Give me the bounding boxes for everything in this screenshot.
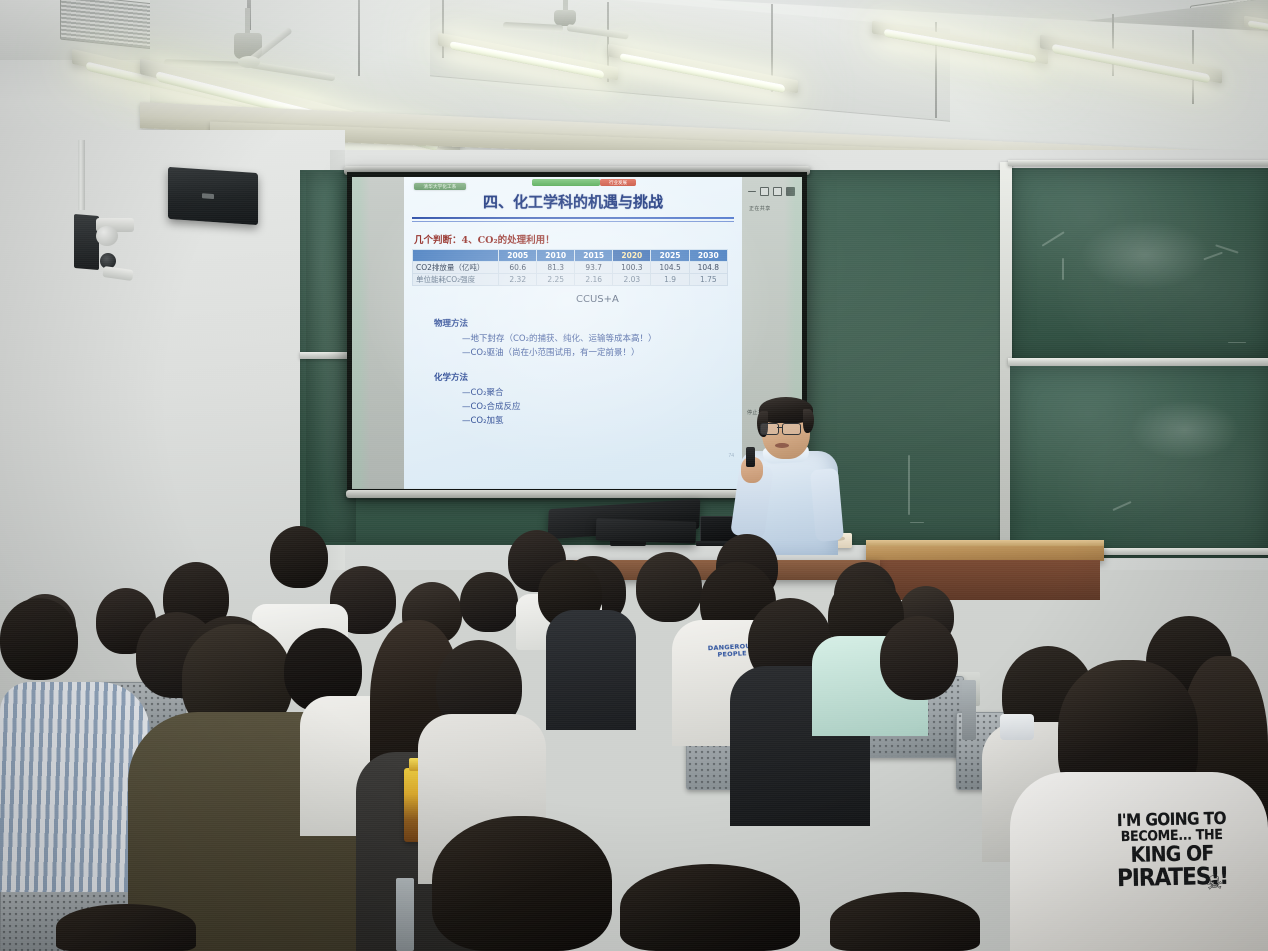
pirate-king-shirt-text: I'M GOING TO BECOME... THE KING OF PIRAT… <box>1081 810 1263 891</box>
student-head <box>270 526 328 588</box>
cell-emissions-2020: 100.3 <box>613 262 651 274</box>
podium-edge <box>866 540 1104 546</box>
minimize-icon[interactable] <box>748 191 756 192</box>
co2-data-table: 2005 2010 2015 2020 2025 2030 CO2排放量（亿吨）… <box>412 249 728 286</box>
student-head <box>56 904 196 951</box>
ceiling-fan-motor <box>554 10 576 26</box>
ceiling-hanger-rod <box>442 0 444 58</box>
cell-intensity-2005: 2.32 <box>499 274 537 286</box>
security-camera-dome <box>96 226 118 246</box>
table-header-2005: 2005 <box>499 250 537 262</box>
lecturer-glasses-bridge <box>777 427 783 428</box>
cell-emissions-2005: 60.6 <box>499 262 537 274</box>
maximize-icon[interactable] <box>773 187 782 196</box>
seat-armrest <box>962 680 976 740</box>
row-label-emissions: CO2排放量（亿吨） <box>413 262 499 274</box>
bullet-chemical-1: —CO₂聚合 <box>462 386 504 398</box>
student-body <box>546 610 636 730</box>
table-header-2030: 2030 <box>689 250 727 262</box>
cell-emissions-2010: 81.3 <box>537 262 575 274</box>
lecturer-glasses-right-lens <box>782 423 801 435</box>
tee-line-4: PIRATES!! <box>1082 863 1262 891</box>
student-head <box>620 864 800 951</box>
student-head <box>830 892 980 951</box>
table-row: CO2排放量（亿吨） 60.6 81.3 93.7 100.3 104.5 10… <box>413 262 728 274</box>
ceiling-fan-rod <box>245 8 250 36</box>
cell-intensity-2015: 2.16 <box>575 274 613 286</box>
ccus-label: CCUS+A <box>576 294 619 305</box>
skull-and-crossbones-icon: ☠ <box>1205 873 1223 893</box>
lecturer-mouth <box>775 443 789 448</box>
cell-intensity-2025: 1.9 <box>651 274 689 286</box>
face-mask <box>1000 714 1034 740</box>
lecturer-right-arm <box>810 468 844 542</box>
restore-icon[interactable] <box>760 187 769 196</box>
powerpoint-slide: 清华大学化工系 行业发展 四、化工学科的机遇与挑战 几个判断：4、CO₂的处理利… <box>404 177 742 489</box>
bullet-chemical-2: —CO₂合成反应 <box>462 400 521 412</box>
slide-subtitle: 几个判断：4、CO₂的处理利用！ <box>414 232 555 246</box>
cell-intensity-2010: 2.25 <box>537 274 575 286</box>
electrical-conduit <box>78 140 85 210</box>
row-label-intensity: 单位能耗CO₂强度 <box>413 274 499 286</box>
wall-speaker[interactable] <box>168 167 258 225</box>
seat-armrest <box>396 878 414 951</box>
slide-page-number: 74 <box>728 453 734 459</box>
slide-rule <box>412 217 734 219</box>
slide-badge-institution: 清华大学化工系 <box>414 183 466 190</box>
ceiling-hanger-rod <box>1112 14 1114 76</box>
cell-intensity-2020: 2.03 <box>613 274 651 286</box>
microphone[interactable] <box>746 447 755 467</box>
lecturer <box>735 395 855 555</box>
table-corner-cell <box>413 250 499 262</box>
sharing-status-label: 正在共享 <box>749 205 771 212</box>
bullet-physical-2: —CO₂驱油（尚在小范围试用，有一定前景！） <box>462 346 640 358</box>
chalk-mark <box>1062 258 1064 280</box>
chalk-mark <box>1228 342 1246 343</box>
table-header-row: 2005 2010 2015 2020 2025 2030 <box>413 250 728 262</box>
slide-badge-topic: 行业发展 <box>600 179 636 186</box>
window-controls[interactable] <box>748 187 795 196</box>
cell-emissions-2030: 104.8 <box>689 262 727 274</box>
cell-emissions-2025: 104.5 <box>651 262 689 274</box>
student-head <box>636 552 702 622</box>
section-heading-physical: 物理方法 <box>434 317 468 329</box>
lecture-hall-photo: 正在共享 停止共享 更多 清华大学化工系 行业发展 四、化工学科的机遇与挑战 几… <box>0 0 1268 951</box>
close-icon[interactable] <box>786 187 795 196</box>
board-rail-top <box>1008 160 1268 166</box>
table-header-2020: 2020 <box>613 250 651 262</box>
slide-rule-thin <box>412 221 734 222</box>
screenshare-left-pane <box>352 177 405 489</box>
ceiling-fan-hub <box>238 56 260 68</box>
chalk-mark <box>908 455 910 515</box>
chalkboard-panel-upper-right <box>1010 168 1268 360</box>
slide-badge-green <box>532 179 600 186</box>
cell-intensity-2030: 1.75 <box>689 274 727 286</box>
podium-monitor-base <box>596 518 697 543</box>
lecturer-glasses-left-lens <box>760 423 779 435</box>
bullet-chemical-3: —CO₂加氢 <box>462 414 504 426</box>
table-header-2025: 2025 <box>651 250 689 262</box>
table-row: 单位能耗CO₂强度 2.32 2.25 2.16 2.03 1.9 1.75 <box>413 274 728 286</box>
ceiling-hanger-rod <box>358 0 360 76</box>
lecturer-sideburn <box>803 409 814 433</box>
bullet-physical-1: —地下封存（CO₂的捕获、纯化、运输等成本高！） <box>462 332 657 344</box>
student-head <box>432 816 612 951</box>
board-rail-horizontal <box>1008 358 1268 366</box>
cell-emissions-2015: 93.7 <box>575 262 613 274</box>
chalkboard-panel-lower-right <box>1010 366 1268 558</box>
chalk-mark <box>910 522 924 523</box>
table-header-2010: 2010 <box>537 250 575 262</box>
student-head <box>880 616 958 700</box>
slide-title: 四、化工学科的机遇与挑战 <box>404 191 742 212</box>
section-heading-chemical: 化学方法 <box>434 371 468 383</box>
table-header-2015: 2015 <box>575 250 613 262</box>
